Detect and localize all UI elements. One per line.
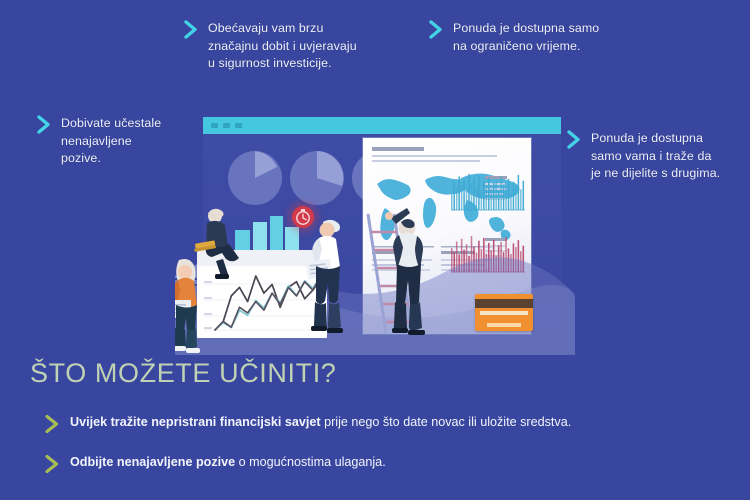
credit-card-graphic bbox=[475, 294, 533, 331]
action-text: Odbijte nenajavljene pozive o mogućnosti… bbox=[70, 454, 386, 470]
action-text-bold: Uvijek tražite nepristrani financijski s… bbox=[70, 415, 321, 429]
chevron-right-icon bbox=[44, 454, 61, 474]
browser-title-bar bbox=[203, 117, 561, 134]
chevron-right-icon bbox=[44, 414, 61, 434]
callout-frequent-unsolicited-calls: Dobivate učestale nenajavljene pozive. bbox=[36, 115, 196, 168]
pie-chart-1 bbox=[228, 151, 282, 205]
callout-promise-of-quick-profit: Obećavaju vam brzu značajnu dobit i uvje… bbox=[183, 20, 398, 73]
action-text-rest: o mogućnostima ulaganja. bbox=[235, 455, 386, 469]
card-bottom-bar bbox=[487, 323, 521, 327]
browser-dot-icon bbox=[235, 123, 242, 128]
callout-text: Ponuda je dostupna samo vama i traže da … bbox=[591, 130, 720, 183]
figure-man-on-ladder-pointing bbox=[377, 202, 433, 338]
action-text-bold: Odbijte nenajavljene pozive bbox=[70, 455, 235, 469]
card-magnetic-stripe bbox=[475, 299, 533, 308]
callout-limited-time-offer: Ponuda je dostupna samo na ograničeno vr… bbox=[428, 20, 633, 55]
browser-dot-icon bbox=[211, 123, 218, 128]
chevron-right-icon bbox=[183, 20, 199, 39]
action-text: Uvijek tražite nepristrani financijski s… bbox=[70, 414, 571, 430]
callout-text: Obećavaju vam brzu značajnu dobit i uvje… bbox=[208, 20, 357, 73]
action-text-rest: prije nego što date novac ili uložite sr… bbox=[321, 415, 572, 429]
card-signature-strip bbox=[480, 311, 528, 315]
action-seek-impartial-advice: Uvijek tražite nepristrani financijski s… bbox=[44, 414, 571, 434]
browser-dot-icon bbox=[223, 123, 230, 128]
chevron-right-icon bbox=[36, 115, 52, 134]
callout-text: Dobivate učestale nenajavljene pozive. bbox=[61, 115, 161, 168]
action-reject-unsolicited-calls: Odbijte nenajavljene pozive o mogućnosti… bbox=[44, 454, 386, 474]
callout-text: Ponuda je dostupna samo na ograničeno vr… bbox=[453, 20, 599, 55]
chevron-right-icon bbox=[428, 20, 444, 39]
financial-dashboard-illustration bbox=[175, 108, 575, 355]
infographic-poster: Obećavaju vam brzu značajnu dobit i uvje… bbox=[0, 0, 750, 500]
what-you-can-do-section: ŠTO MOŽETE UČINITI? Uvijek tražite nepri… bbox=[0, 352, 750, 500]
figure-man-with-paper bbox=[305, 216, 353, 338]
pie-chart-2 bbox=[290, 151, 344, 205]
section-heading: ŠTO MOŽETE UČINITI? bbox=[30, 358, 336, 389]
callout-exclusive-offer-keep-secret: Ponuda je dostupna samo vama i traže da … bbox=[566, 130, 746, 183]
figure-woman-with-document bbox=[175, 256, 213, 355]
